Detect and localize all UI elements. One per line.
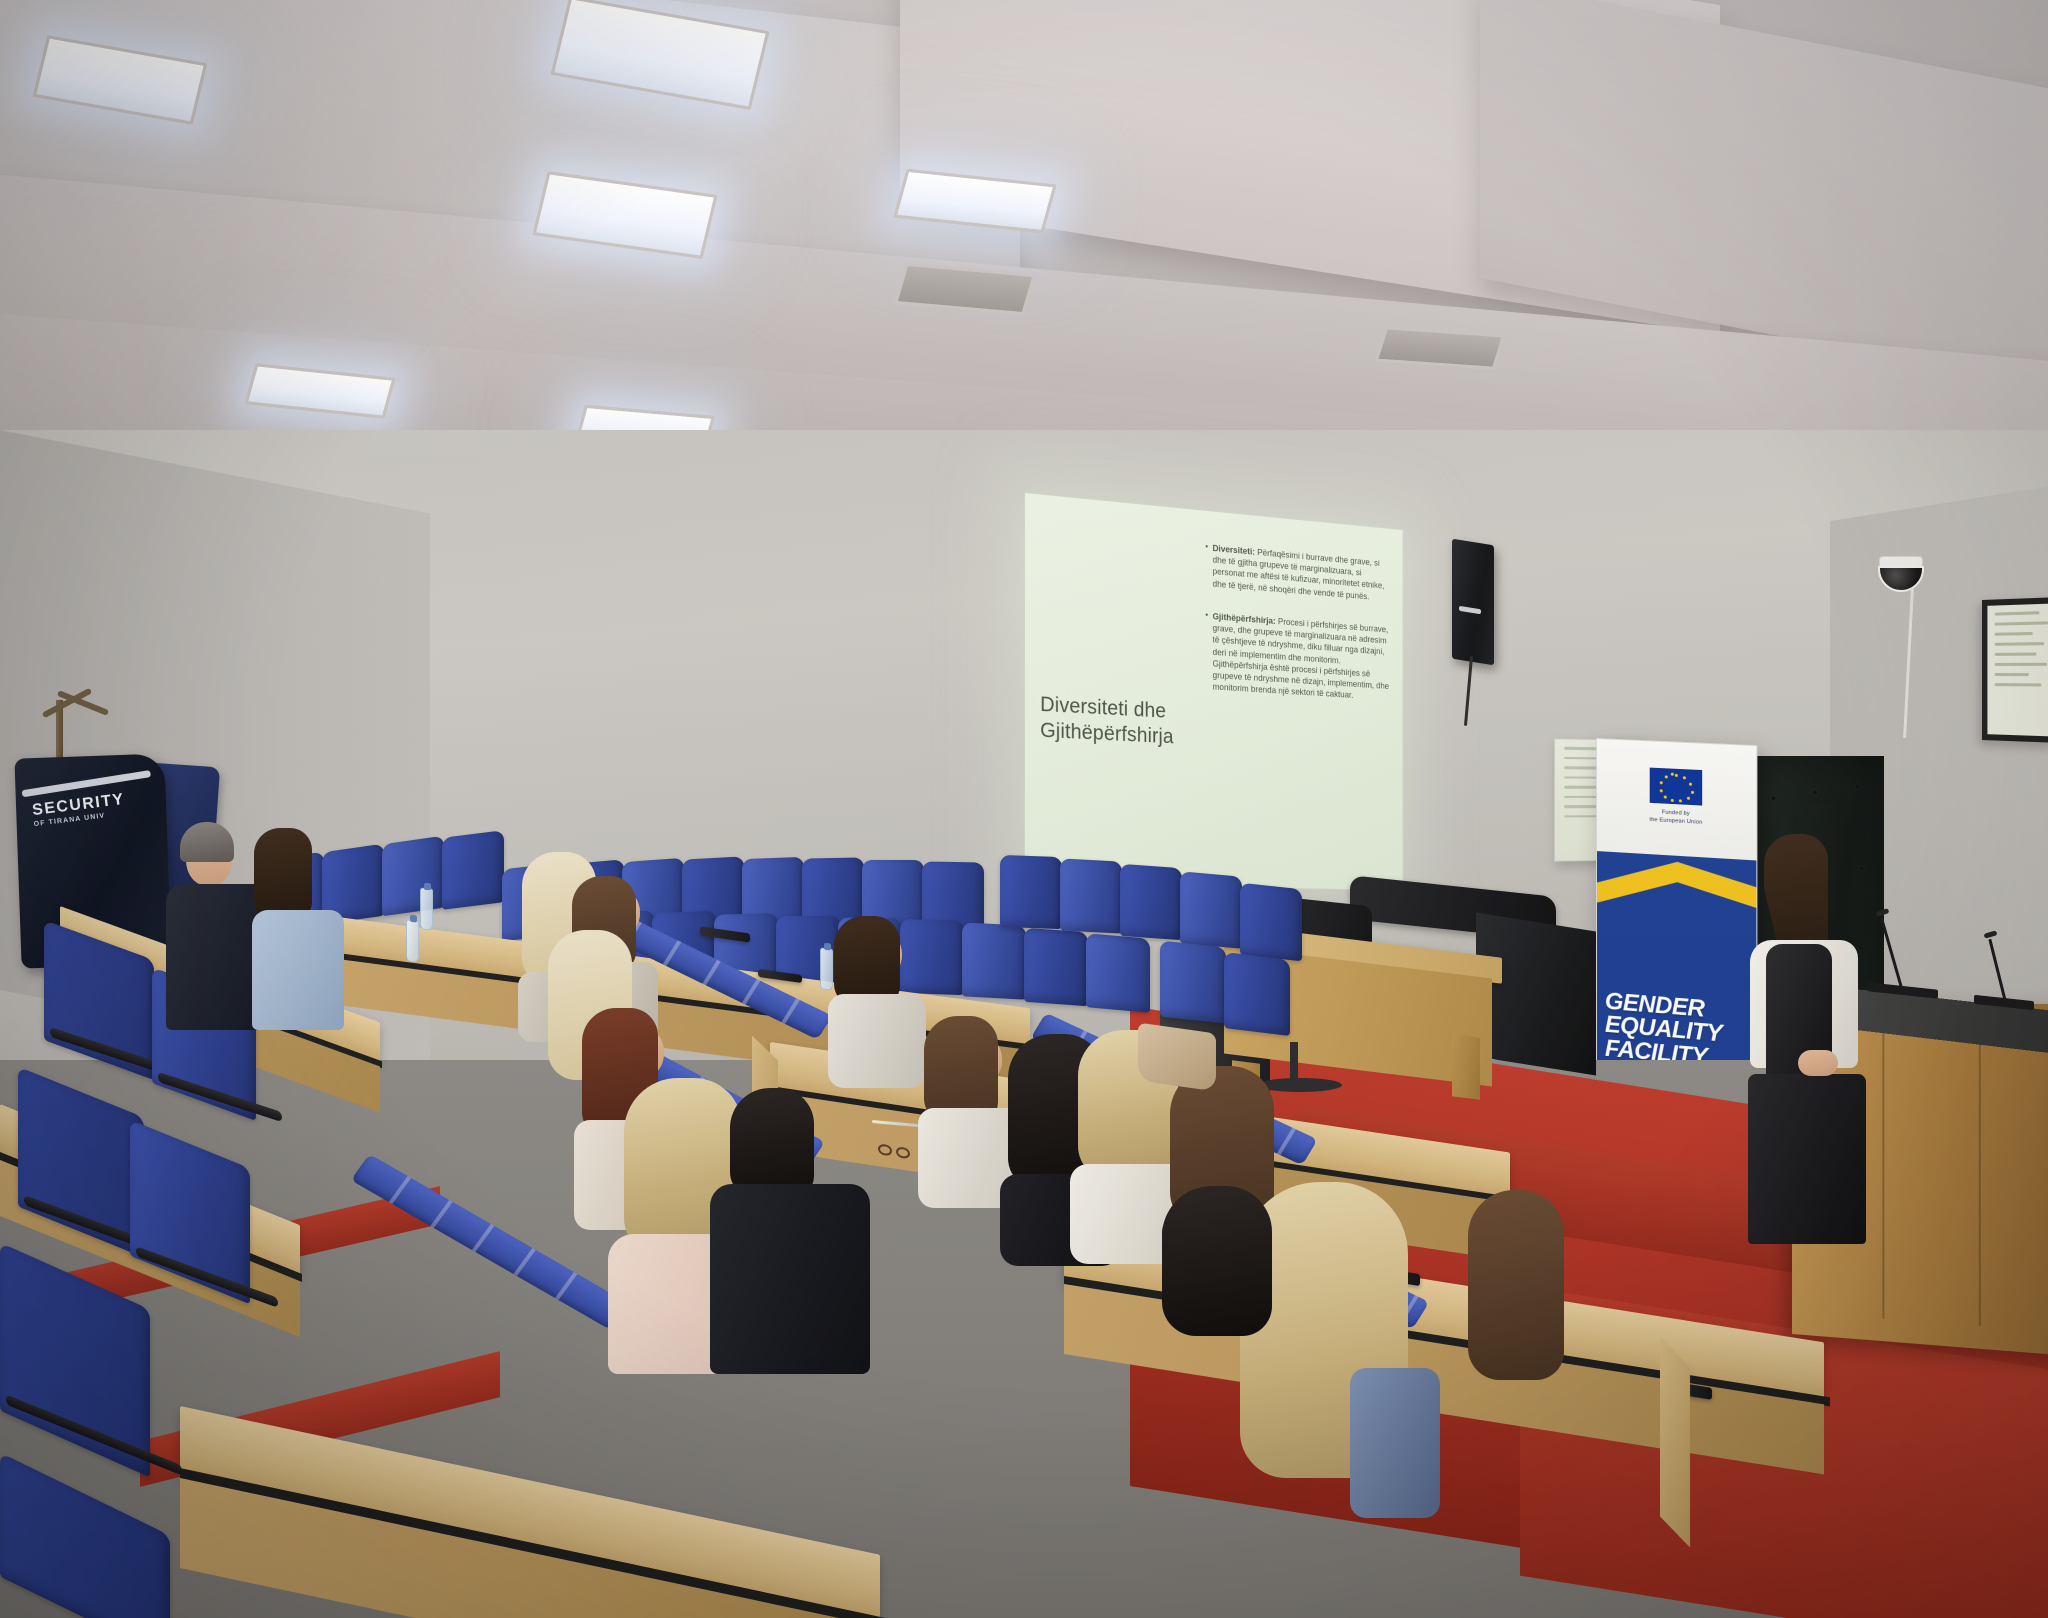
slide-bullet: • Gjithëpërfshirja: Procesi i përfshirje… [1205,610,1391,703]
presenter-skirt [1748,1074,1866,1244]
audience-member [1152,1186,1292,1416]
wall-speaker [1452,539,1494,666]
desk-leg [1452,1034,1480,1099]
bullet-text: Procesi i përfshirjes së burrave, grave,… [1212,615,1389,700]
water-bottle [406,919,419,962]
auditorium-photo: Diversiteti dhe Gjithëpërfshirja • Diver… [0,0,2048,1618]
dome-cctv-camera-icon [1875,556,1927,590]
slide-bullet: • Diversiteti: Përfaqësimi i burrave dhe… [1205,542,1391,604]
presenter [1742,836,1882,1236]
eu-flag-icon [1650,768,1702,806]
handbag [1138,1023,1216,1092]
bullet-marker: • [1205,542,1208,589]
slide-title: Diversiteti dhe Gjithëpërfshirja [1034,504,1205,873]
audience-member [700,1088,880,1368]
presenter-hands [1798,1050,1838,1076]
black-panel [1476,912,1596,1075]
slide-body: • Diversiteti: Përfaqësimi i burrave dhe… [1205,520,1391,876]
bullet-marker: • [1205,610,1208,693]
audience-member [1468,1190,1588,1430]
water-bottle [420,888,433,931]
framed-certificate [1982,597,2048,743]
audience-member [228,824,348,1044]
projection-screen: Diversiteti dhe Gjithëpërfshirja • Diver… [1024,492,1403,891]
